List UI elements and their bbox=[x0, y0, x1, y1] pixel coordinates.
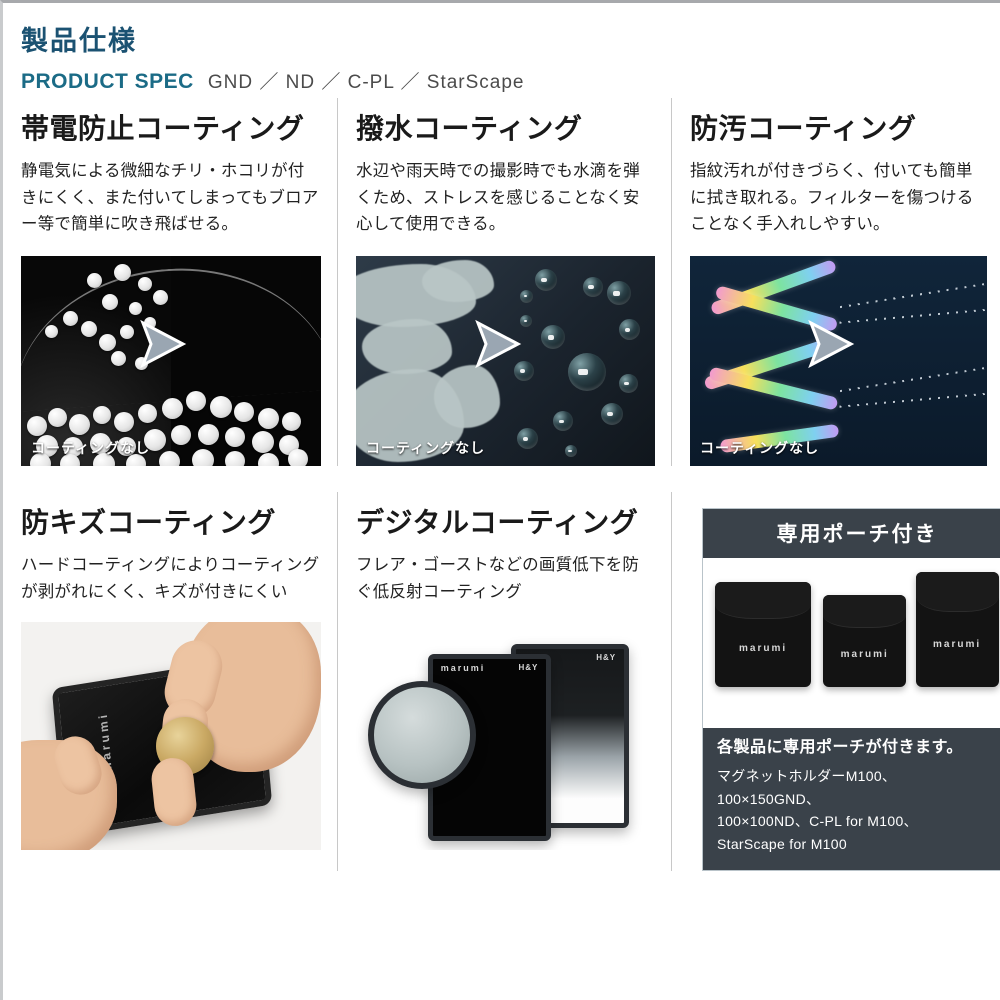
comparison-arrow-icon bbox=[135, 317, 189, 371]
feature-water-repellent: 撥水コーティング 水辺や雨天時での撮影時でも水滴を弾くため、ストレスを感じること… bbox=[337, 98, 671, 466]
water-repellent-comparison-photo: コーティングなし bbox=[356, 256, 655, 466]
cpl-circular-filter bbox=[368, 681, 476, 789]
feature-scratch-resistant: 防キズコーティング ハードコーティングによりコーティングが剥がれにくく、キズが付… bbox=[3, 492, 337, 870]
feature-row-bottom: 防キズコーティング ハードコーティングによりコーティングが剥がれにくく、キズが付… bbox=[3, 492, 1000, 870]
page-title: 製品仕様 bbox=[21, 27, 1000, 57]
spec-label-en: PRODUCT SPEC bbox=[21, 70, 194, 94]
pouch-tall: marumi bbox=[916, 572, 999, 688]
no-coating-label: コーティングなし bbox=[700, 438, 819, 458]
feature-anti-static: 帯電防止コーティング 静電気による微細なチリ・ホコリが付きにくく、また付いてしま… bbox=[3, 98, 337, 466]
feature-title: デジタルコーティング bbox=[356, 508, 655, 540]
product-spec-page: 製品仕様 PRODUCT SPEC GND ／ ND ／ C-PL ／ Star… bbox=[0, 0, 1000, 1000]
feature-row-top: 帯電防止コーティング 静電気による微細なチリ・ホコリが付きにくく、また付いてしま… bbox=[3, 98, 1000, 466]
pouch-medium: marumi bbox=[823, 595, 906, 687]
pouch-footer-headline: 各製品に専用ポーチが付きます。 bbox=[717, 738, 997, 759]
pouch-footer-line: マグネットホルダーM100、100×150GND、 bbox=[717, 765, 997, 810]
pouch-large: marumi bbox=[715, 582, 810, 687]
feature-body: 指紋汚れが付きづらく、付いても簡単に拭き取れる。フィルターを傷つけることなく手入… bbox=[690, 158, 987, 238]
pouch-heading: 専用ポーチ付き bbox=[703, 509, 1000, 558]
feature-anti-stain: 防汚コーティング 指紋汚れが付きづらく、付いても簡単に拭き取れる。フィルターを傷… bbox=[671, 98, 1000, 466]
nd-series-label: H&Y bbox=[518, 663, 538, 672]
feature-body: フレア・ゴーストなどの画質低下を防ぐ低反射コーティング bbox=[356, 552, 655, 605]
no-coating-label: コーティングなし bbox=[31, 438, 150, 458]
pouch-flap bbox=[823, 595, 906, 627]
pouch-brand-label: marumi bbox=[916, 639, 999, 650]
digital-coating-product-photo: H&Y marumi H&Y bbox=[356, 622, 655, 850]
comparison-arrow-icon bbox=[470, 317, 524, 371]
feature-title: 帯電防止コーティング bbox=[21, 114, 321, 146]
no-coating-label: コーティングなし bbox=[366, 438, 485, 458]
feature-body: ハードコーティングによりコーティングが剥がれにくく、キズが付きにくい bbox=[21, 552, 321, 605]
pouch-brand-label: marumi bbox=[823, 649, 906, 660]
scratch-resistance-photo: marumi bbox=[21, 622, 321, 850]
feature-title: 防汚コーティング bbox=[690, 114, 987, 146]
feature-title: 撥水コーティング bbox=[356, 114, 655, 146]
feature-body: 水辺や雨天時での撮影時でも水滴を弾くため、ストレスを感じることなく安心して使用で… bbox=[356, 158, 655, 238]
page-header: 製品仕様 PRODUCT SPEC GND ／ ND ／ C-PL ／ Star… bbox=[3, 3, 1000, 98]
pouch-brand-label: marumi bbox=[715, 643, 810, 654]
pouch-footer: 各製品に専用ポーチが付きます。 マグネットホルダーM100、100×150GND… bbox=[703, 728, 1000, 869]
pouch-photo: marumi marumi marumi bbox=[703, 558, 1000, 728]
feature-body: 静電気による微細なチリ・ホコリが付きにくく、また付いてしまってもブロアー等で簡単… bbox=[21, 158, 321, 238]
pouch-section: 専用ポーチ付き marumi marumi marumi bbox=[671, 492, 1000, 870]
gnd-brand-label: H&Y bbox=[596, 653, 616, 662]
comparison-arrow-icon bbox=[803, 317, 857, 371]
pouch-footer-line: 100×100ND、C-PL for M100、 bbox=[717, 810, 997, 833]
anti-static-comparison-photo: コーティングなし bbox=[21, 256, 321, 466]
pouch-flap bbox=[916, 572, 999, 612]
spec-subtitle-row: PRODUCT SPEC GND ／ ND ／ C-PL ／ StarScape bbox=[21, 67, 1000, 94]
feature-title: 防キズコーティング bbox=[21, 508, 321, 540]
spec-model-list: GND ／ ND ／ C-PL ／ StarScape bbox=[208, 67, 525, 94]
pouch-footer-line: StarScape for M100 bbox=[717, 833, 997, 856]
pouch-panel: 専用ポーチ付き marumi marumi marumi bbox=[702, 508, 1000, 870]
feature-digital-coating: デジタルコーティング フレア・ゴーストなどの画質低下を防ぐ低反射コーティング H… bbox=[337, 492, 671, 870]
anti-stain-comparison-photo: コーティングなし bbox=[690, 256, 987, 466]
pouch-flap bbox=[715, 582, 810, 619]
nd-brand-label: marumi bbox=[441, 663, 486, 673]
